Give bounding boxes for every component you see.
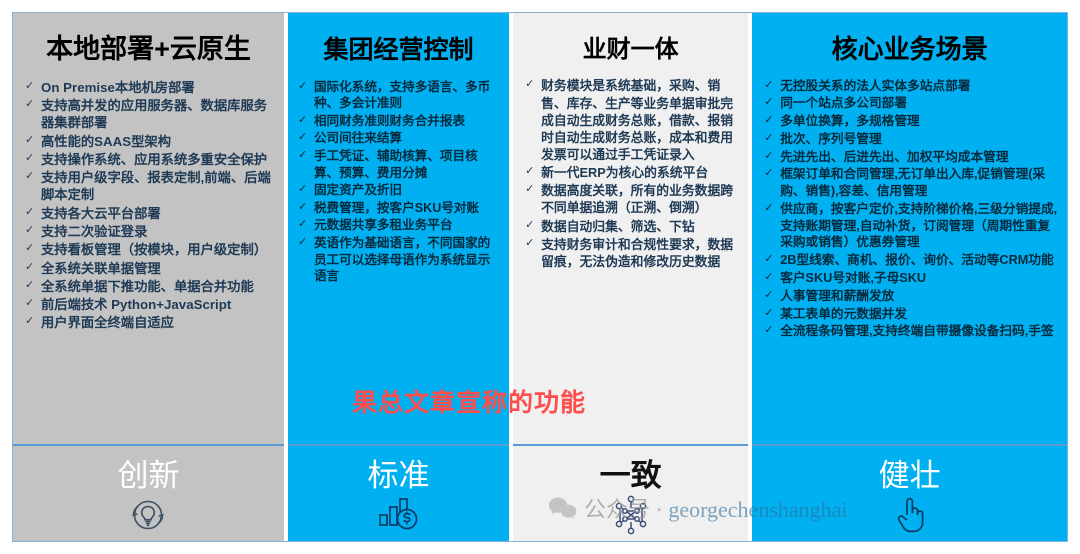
list-item: 数据高度关联，所有的业务数据跨不同单据追溯（正溯、倒溯） xyxy=(525,182,740,216)
list-item: 先进先出、后进先出、加权平均成本管理 xyxy=(764,149,1059,166)
footer-label: 标准 xyxy=(288,446,509,491)
list-item: 支持用户级字段、报表定制,前端、后端脚本定制 xyxy=(25,169,274,204)
list-item: 国际化系统，支持多语言、多币种、多会计准则 xyxy=(298,79,501,112)
network-nodes-icon xyxy=(513,493,748,537)
list-item: 多单位换算，多规格管理 xyxy=(764,113,1059,130)
column-title: 业财一体 xyxy=(513,13,748,63)
column-group-control: 集团经营控制 国际化系统，支持多语言、多币种、多会计准则 相同财务准则财务合并报… xyxy=(288,13,509,541)
list-item: 某工表单的元数据并发 xyxy=(764,306,1059,323)
column-core-scenarios: 核心业务场景 无控股关系的法人实体多站点部署 同一个站点多公司部署 多单位换算，… xyxy=(752,13,1067,541)
column-local-cloud: 本地部署+云原生 On Premise本地机房部署 支持高并发的应用服务器、数据… xyxy=(13,13,284,541)
list-item: 高性能的SAAS型架构 xyxy=(25,133,274,150)
column-body: 业财一体 财务模块是系统基础，采购、销售、库存、生产等业务单据审批完成自动生成财… xyxy=(513,13,748,444)
list-item: 客户SKU号对账,子母SKU xyxy=(764,270,1059,287)
list-item: 批次、序列号管理 xyxy=(764,131,1059,148)
column-footer: 创新 xyxy=(13,444,284,541)
list-item: 用户界面全终端自适应 xyxy=(25,314,274,331)
list-item: 人事管理和薪酬发放 xyxy=(764,288,1059,305)
column-biz-finance: 业财一体 财务模块是系统基础，采购、销售、库存、生产等业务单据审批完成自动生成财… xyxy=(513,13,748,541)
list-item: 框架订单和合同管理,无订单出入库,促销管理(采购、销售),容差、信用管理 xyxy=(764,166,1059,200)
feature-list: 无控股关系的法人实体多站点部署 同一个站点多公司部署 多单位换算，多规格管理 批… xyxy=(752,78,1067,340)
hand-pointer-icon xyxy=(752,493,1067,535)
list-item: 支持操作系统、应用系统多重安全保护 xyxy=(25,151,274,168)
column-title: 核心业务场景 xyxy=(752,13,1067,64)
bar-chart-dollar-icon xyxy=(288,493,509,533)
list-item: 全系统关联单据管理 xyxy=(25,260,274,277)
list-item: 英语作为基础语言，不同国家的员工可以选择母语作为系统显示语言 xyxy=(298,235,501,285)
list-item: On Premise本地机房部署 xyxy=(25,79,274,96)
list-item: 2B型线索、商机、报价、询价、活动等CRM功能 xyxy=(764,252,1059,269)
list-item: 全流程条码管理,支持终端自带摄像设备扫码,手签 xyxy=(764,323,1059,340)
column-body: 本地部署+云原生 On Premise本地机房部署 支持高并发的应用服务器、数据… xyxy=(13,13,284,444)
feature-list: On Premise本地机房部署 支持高并发的应用服务器、数据库服务器集群部署 … xyxy=(13,79,284,332)
list-item: 公司间往来结算 xyxy=(298,130,501,147)
feature-list: 国际化系统，支持多语言、多币种、多会计准则 相同财务准则财务合并报表 公司间往来… xyxy=(288,79,509,285)
list-item: 支持各大云平台部署 xyxy=(25,205,274,222)
list-item: 供应商，按客户定价,支持阶梯价格,三级分销提成,支持账期管理,自动补货，订阅管理… xyxy=(764,201,1059,251)
list-item: 同一个站点多公司部署 xyxy=(764,95,1059,112)
column-title: 集团经营控制 xyxy=(288,13,509,65)
list-item: 手工凭证、辅助核算、项目核算、预算、费用分摊 xyxy=(298,148,501,181)
list-item: 前后端技术 Python+JavaScript xyxy=(25,296,274,313)
list-item: 财务模块是系统基础，采购、销售、库存、生产等业务单据审批完成自动生成财务总账，借… xyxy=(525,77,740,163)
footer-label: 一致 xyxy=(513,446,748,491)
list-item: 支持二次验证登录 xyxy=(25,223,274,240)
list-item: 相同财务准则财务合并报表 xyxy=(298,113,501,130)
list-item: 固定资产及折旧 xyxy=(298,182,501,199)
footer-label: 创新 xyxy=(13,446,284,491)
lightbulb-refresh-icon xyxy=(13,493,284,537)
list-item: 支持财务审计和合规性要求，数据留痕，无法伪造和修改历史数据 xyxy=(525,236,740,270)
list-item: 元数据共享多租业务平台 xyxy=(298,217,501,234)
list-item: 数据自动归集、筛选、下钻 xyxy=(525,218,740,235)
column-footer: 一致 xyxy=(513,444,748,541)
slide-root: 本地部署+云原生 On Premise本地机房部署 支持高并发的应用服务器、数据… xyxy=(0,0,1080,554)
column-body: 核心业务场景 无控股关系的法人实体多站点部署 同一个站点多公司部署 多单位换算，… xyxy=(752,13,1067,444)
list-item: 税费管理，按客户SKU号对账 xyxy=(298,200,501,217)
list-item: 全系统单据下推功能、单据合并功能 xyxy=(25,278,274,295)
list-item: 支持高并发的应用服务器、数据库服务器集群部署 xyxy=(25,97,274,132)
feature-list: 财务模块是系统基础，采购、销售、库存、生产等业务单据审批完成自动生成财务总账，借… xyxy=(513,77,748,270)
columns-grid: 本地部署+云原生 On Premise本地机房部署 支持高并发的应用服务器、数据… xyxy=(13,13,1067,541)
column-body: 集团经营控制 国际化系统，支持多语言、多币种、多会计准则 相同财务准则财务合并报… xyxy=(288,13,509,444)
footer-label: 健壮 xyxy=(752,446,1067,491)
list-item: 支持看板管理（按模块，用户级定制） xyxy=(25,241,274,258)
column-title: 本地部署+云原生 xyxy=(13,13,284,65)
list-item: 新一代ERP为核心的系统平台 xyxy=(525,164,740,181)
column-footer: 标准 xyxy=(288,444,509,541)
red-annotation-text: 果总文章宣称的功能 xyxy=(352,383,586,419)
list-item: 无控股关系的法人实体多站点部署 xyxy=(764,78,1059,95)
column-footer: 健壮 xyxy=(752,444,1067,541)
